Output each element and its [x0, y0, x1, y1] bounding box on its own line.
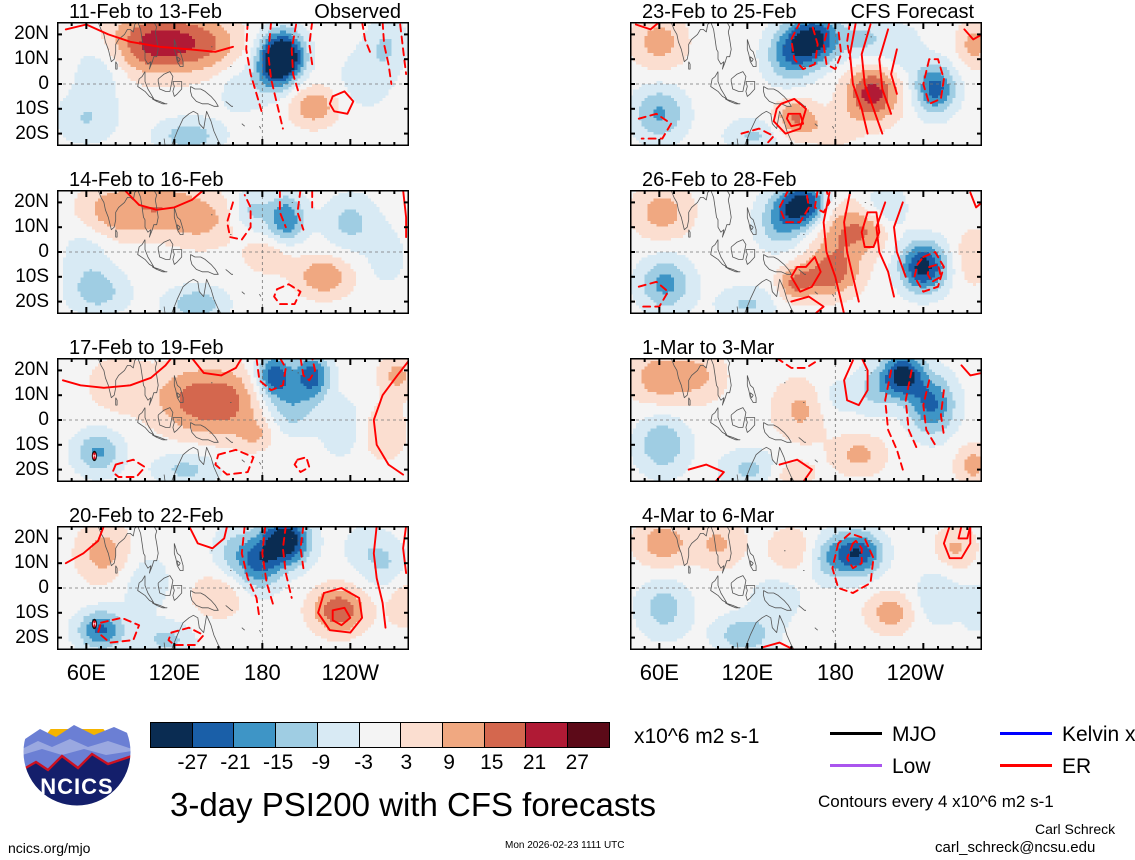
y-axis-tick-label: 0	[0, 410, 49, 429]
map-plot-area	[630, 358, 982, 482]
panel-title: 1-Mar to 3-Mar	[642, 338, 774, 358]
x-axis-tick-label: 180	[212, 662, 312, 684]
y-axis-tick-label: 0	[0, 74, 49, 93]
contour-interval-note: Contours every 4 x10^6 m2 s-1	[818, 793, 1054, 810]
map-plot-area	[57, 22, 409, 146]
colorbar-swatch	[359, 722, 402, 748]
colorbar-swatch	[275, 722, 318, 748]
colorbar-swatch	[317, 722, 360, 748]
colorbar-swatch	[484, 722, 527, 748]
y-axis-tick-label: 20S	[0, 292, 49, 311]
colorbar	[150, 722, 620, 748]
panel-title: 20-Feb to 22-Feb	[69, 506, 224, 526]
colorbar-swatch	[150, 722, 193, 748]
x-axis-tick-label: 120W	[865, 662, 965, 684]
colorbar-units-label: x10^6 m2 s-1	[634, 726, 759, 747]
y-axis-tick-label: 20S	[0, 460, 49, 479]
x-axis-tick-label: 120E	[124, 662, 224, 684]
figure-root: 11-Feb to 13-FebObserved20N10N010S20S14-…	[0, 0, 1135, 860]
x-axis-tick-label: 60E	[36, 662, 136, 684]
y-axis-tick-label: 10S	[0, 99, 49, 118]
y-axis-tick-label: 0	[0, 578, 49, 597]
y-axis-tick-label: 20S	[0, 124, 49, 143]
x-axis-tick-label: 120W	[300, 662, 400, 684]
x-axis-tick-label: 60E	[609, 662, 709, 684]
panel-title: 23-Feb to 25-Feb	[642, 2, 797, 22]
legend-label: Kelvin x2	[1062, 724, 1135, 745]
main-title: 3-day PSI200 with CFS forecasts	[170, 788, 656, 821]
map-plot-area: H	[57, 526, 409, 650]
y-axis-tick-label: 10N	[0, 553, 49, 572]
colorbar-swatch	[442, 722, 485, 748]
map-plot-area	[57, 190, 409, 314]
colorbar-swatch	[192, 722, 235, 748]
panel-title: 26-Feb to 28-Feb	[642, 170, 797, 190]
colorbar-swatch	[567, 722, 610, 748]
legend-label: MJO	[892, 724, 936, 745]
x-axis-tick-label: 120E	[697, 662, 797, 684]
y-axis-tick-label: 20S	[0, 628, 49, 647]
legend-line-er	[1000, 764, 1052, 767]
panel-title: 17-Feb to 19-Feb	[69, 338, 224, 358]
y-axis-tick-label: 20N	[0, 360, 49, 379]
y-axis-tick-label: 0	[0, 242, 49, 261]
y-axis-tick-label: 10N	[0, 49, 49, 68]
panel-title: 14-Feb to 16-Feb	[69, 170, 224, 190]
y-axis-tick-label: 10S	[0, 603, 49, 622]
y-axis-tick-label: 20N	[0, 24, 49, 43]
map-plot-area	[630, 190, 982, 314]
y-axis-tick-label: 10S	[0, 435, 49, 454]
legend-label: Low	[892, 756, 931, 777]
legend-line-kelvin-x2	[1000, 732, 1052, 735]
generation-timestamp: Mon 2026-02-23 1111 UTC	[505, 841, 625, 851]
column-header: CFS Forecast	[814, 2, 974, 22]
author-email: carl_schreck@ncsu.edu	[935, 840, 1095, 855]
y-axis-tick-label: 10N	[0, 217, 49, 236]
column-header: Observed	[241, 2, 401, 22]
author-name: Carl Schreck	[1035, 822, 1115, 836]
colorbar-swatch	[525, 722, 568, 748]
colorbar-swatch	[400, 722, 443, 748]
y-axis-tick-label: 20N	[0, 192, 49, 211]
colorbar-swatch	[233, 722, 276, 748]
panel-title: 11-Feb to 13-Feb	[69, 2, 222, 22]
legend-label: ER	[1062, 756, 1091, 777]
legend-line-mjo	[830, 732, 882, 735]
site-url: ncics.org/mjo	[8, 841, 90, 855]
y-axis-tick-label: 10S	[0, 267, 49, 286]
map-plot-area: H	[57, 358, 409, 482]
colorbar-tick-label: 27	[547, 752, 607, 773]
logo-text: NCICS	[22, 776, 132, 798]
map-plot-area	[630, 22, 982, 146]
y-axis-tick-label: 20N	[0, 528, 49, 547]
legend-line-low	[830, 764, 882, 767]
y-axis-tick-label: 10N	[0, 385, 49, 404]
panel-title: 4-Mar to 6-Mar	[642, 506, 774, 526]
map-plot-area	[630, 526, 982, 650]
